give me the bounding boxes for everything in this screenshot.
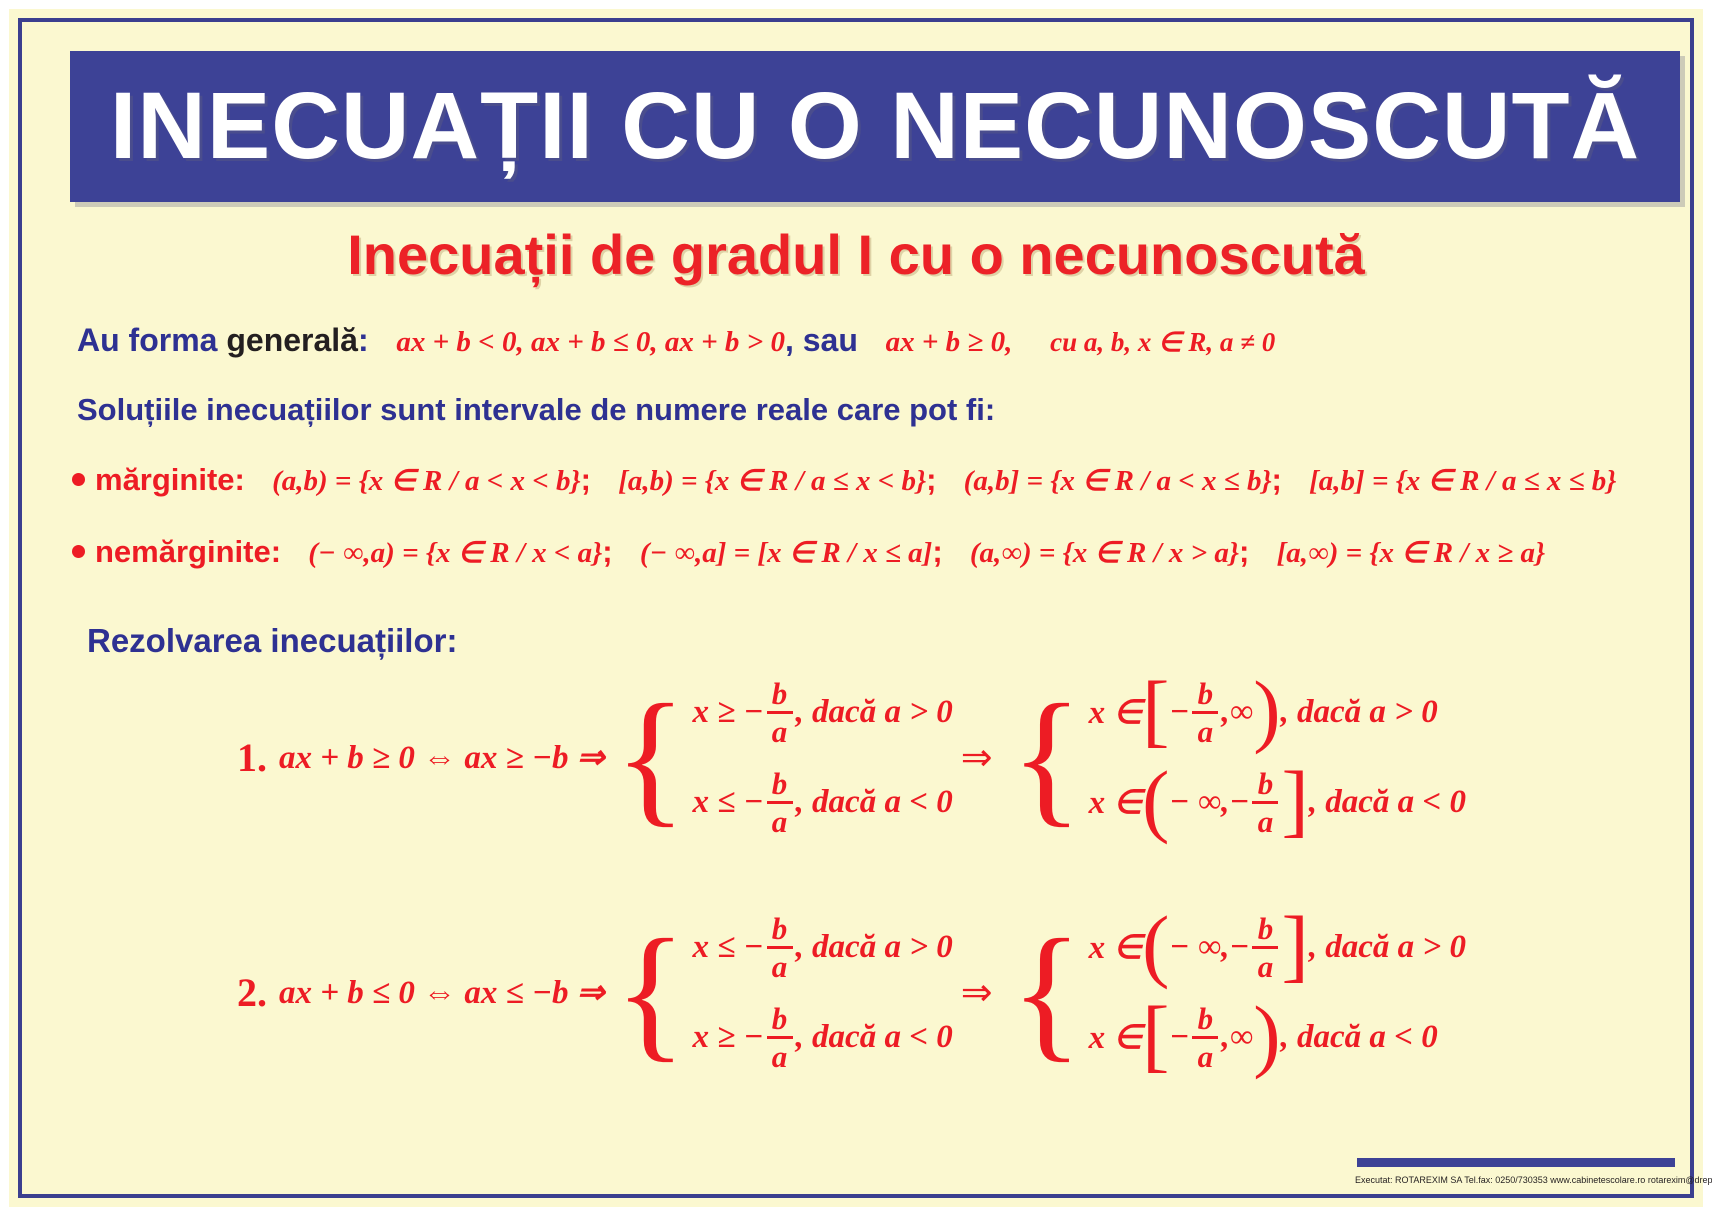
poster-root: INECUAȚII CU O NECUNOSCUTĂ Inecuații de … <box>0 0 1712 1216</box>
f2-l1-fraction: b a <box>767 913 793 982</box>
title-banner: INECUAȚII CU O NECUNOSCUTĂ <box>70 51 1680 202</box>
f1-l1-tail: , dacă a > 0 <box>796 694 953 731</box>
f2-r2-prefix: x ∈ <box>1089 1017 1143 1057</box>
f2-r1-fraction: b a <box>1252 913 1278 982</box>
f1-l2-num: b <box>772 768 788 799</box>
f1-r1-prefix: x ∈ <box>1089 692 1143 732</box>
sep-n-1: ; <box>932 534 942 569</box>
f1-r2-num: b <box>1258 768 1274 799</box>
formula-1-right-case-1: x ∈ [ − b a ,∞ ) , dacă a > 0 <box>1089 667 1466 757</box>
bullet-nemarginite-set-2: (a,∞) = {x ∈ R / x > a} <box>970 537 1239 569</box>
general-form-expr2: ax + b ≥ 0, <box>886 326 1013 358</box>
f2-r2-sign: − <box>1169 1019 1189 1056</box>
general-form-expr1: ax + b < 0, ax + b ≤ 0, ax + b > 0 <box>396 326 785 358</box>
f2-r2-open-bracket-icon: [ <box>1142 1010 1169 1059</box>
formula-2-implies-icon: ⇒ <box>961 970 993 1015</box>
f1-r2-sign: − ∞,− <box>1169 784 1249 821</box>
subtitle: Inecuații de gradul I cu o necunoscută <box>22 222 1690 287</box>
f2-r1-open-bracket-icon: ( <box>1142 920 1169 969</box>
f1-r1-fraction: b a <box>1192 678 1218 747</box>
f2-r2-mid: ,∞ <box>1221 1019 1253 1056</box>
f2-l2-rel: x ≥ − <box>692 1019 763 1056</box>
f1-r2-den: a <box>1258 806 1274 837</box>
general-form-sau: sau <box>803 322 858 358</box>
f1-r2-open-bracket-icon: ( <box>1142 775 1169 824</box>
bullet-nemarginite-set-0: (− ∞,a) = {x ∈ R / x < a} <box>308 537 602 569</box>
f2-l1-tail: , dacă a > 0 <box>796 929 953 966</box>
general-form-colon: : <box>358 322 369 358</box>
formula-1-right-case-2: x ∈ ( − ∞,− b a ] , dacă a < 0 <box>1089 757 1466 847</box>
f1-l1-den: a <box>772 716 788 747</box>
footer-credit: Executat: ROTAREXIM SA Tel.fax: 0250/730… <box>1355 1175 1685 1185</box>
formula-1-lead: ax + b ≥ 0 ⇔ ax ≥ −b ⇒ <box>279 737 604 777</box>
formula-2-left-case-2: x ≥ − b a , dacă a < 0 <box>692 992 952 1082</box>
bullet-dot-icon <box>72 473 85 486</box>
bullet-nemarginite-label: nemărginite: <box>95 534 281 569</box>
sep-n-2: ; <box>1239 534 1249 569</box>
formula-1-left-case-2: x ≤ − b a , dacă a < 0 <box>692 757 952 847</box>
formula-1-number: 1. <box>237 734 267 781</box>
formula-2-number: 2. <box>237 969 267 1016</box>
f1-r1-mid: ,∞ <box>1221 694 1253 731</box>
f2-r1-sign: − ∞,− <box>1169 929 1249 966</box>
bullet-nemarginite-set-3: [a,∞) = {x ∈ R / x ≥ a} <box>1277 537 1546 569</box>
f1-r1-sign: − <box>1169 694 1189 731</box>
bullet-marginite-set-0: (a,b) = {x ∈ R / a < x < b} <box>272 465 581 497</box>
formula-1-right-cases: x ∈ [ − b a ,∞ ) , dacă a > 0 x ∈ ( − ∞,… <box>1089 667 1466 847</box>
formula-block-1: 1. ax + b ≥ 0 ⇔ ax ≥ −b ⇒ { x ≥ − b a , … <box>237 667 1466 847</box>
bullet-marginite: mărginite: (a,b) = {x ∈ R / a < x < b}; … <box>72 462 1616 498</box>
sep-m-0: ; <box>581 462 591 497</box>
f2-l2-fraction: b a <box>767 1003 793 1072</box>
footer-divider <box>1357 1158 1675 1167</box>
f1-l2-den: a <box>772 806 788 837</box>
f2-l2-tail: , dacă a < 0 <box>796 1019 953 1056</box>
general-form-condition: cu a, b, x ∈ R, a ≠ 0 <box>1050 327 1275 357</box>
f2-l1-rel: x ≤ − <box>692 929 763 966</box>
general-form-label-dark: generală <box>226 322 358 358</box>
f1-l2-rel: x ≤ − <box>692 784 763 821</box>
formula-1-left-brace-icon: { <box>614 699 686 816</box>
formula-1-right-brace-icon: { <box>1011 699 1083 816</box>
sep-n-0: ; <box>602 534 612 569</box>
f1-l2-tail: , dacă a < 0 <box>796 784 953 821</box>
f2-r2-close-bracket-icon: ) <box>1253 1010 1280 1059</box>
f2-r2-num: b <box>1198 1003 1214 1034</box>
f1-r1-tail: , dacă a > 0 <box>1281 694 1438 731</box>
bullet-marginite-set-3: [a,b] = {x ∈ R / a ≤ x ≤ b} <box>1309 465 1616 497</box>
formula-1-left-cases: x ≥ − b a , dacă a > 0 x ≤ − b a , <box>692 667 952 847</box>
f1-r2-close-bracket-icon: ] <box>1281 775 1308 824</box>
formula-2-left-brace-icon: { <box>614 934 686 1051</box>
general-form-label-blue: Au forma <box>77 322 226 358</box>
sep-m-1: ; <box>926 462 936 497</box>
sep-m-2: ; <box>1272 462 1282 497</box>
f2-r1-den: a <box>1258 951 1274 982</box>
formula-2-lead: ax + b ≤ 0 ⇔ ax ≤ −b ⇒ <box>279 972 604 1012</box>
formula-2-right-case-1: x ∈ ( − ∞,− b a ] , dacă a > 0 <box>1089 902 1466 992</box>
general-form-comma: , <box>785 322 794 358</box>
poster-frame: INECUAȚII CU O NECUNOSCUTĂ Inecuații de … <box>18 18 1694 1198</box>
bullet-marginite-label: mărginite: <box>95 462 245 497</box>
formula-2-right-case-2: x ∈ [ − b a ,∞ ) , dacă a < 0 <box>1089 992 1466 1082</box>
page-title: INECUAȚII CU O NECUNOSCUTĂ <box>110 79 1640 174</box>
f2-l1-den: a <box>772 951 788 982</box>
f2-r2-tail: , dacă a < 0 <box>1281 1019 1438 1056</box>
f2-r2-fraction: b a <box>1192 1003 1218 1072</box>
f1-r2-tail: , dacă a < 0 <box>1309 784 1466 821</box>
bullet-marginite-set-2: (a,b] = {x ∈ R / a < x ≤ b} <box>964 465 1272 497</box>
f1-r1-close-bracket-icon: ) <box>1253 685 1280 734</box>
f2-r1-num: b <box>1258 913 1274 944</box>
formula-block-2: 2. ax + b ≤ 0 ⇔ ax ≤ −b ⇒ { x ≤ − b a , … <box>237 902 1466 1082</box>
formula-1-left-case-1: x ≥ − b a , dacă a > 0 <box>692 667 952 757</box>
formula-1-implies-icon: ⇒ <box>961 735 993 780</box>
bullet-nemarginite: nemărginite: (− ∞,a) = {x ∈ R / x < a}; … <box>72 534 1545 570</box>
f1-l2-fraction: b a <box>767 768 793 837</box>
f1-r2-fraction: b a <box>1252 768 1278 837</box>
f2-l2-den: a <box>772 1041 788 1072</box>
f1-r1-open-bracket-icon: [ <box>1142 685 1169 734</box>
f1-r2-prefix: x ∈ <box>1089 782 1143 822</box>
f1-r1-den: a <box>1198 716 1214 747</box>
bullet-marginite-set-1: [a,b) = {x ∈ R / a ≤ x < b} <box>618 465 926 497</box>
bullet-nemarginite-set-1: (− ∞,a] = [x ∈ R / x ≤ a] <box>640 537 932 569</box>
formula-2-left-case-1: x ≤ − b a , dacă a > 0 <box>692 902 952 992</box>
f2-l1-num: b <box>772 913 788 944</box>
f1-l1-num: b <box>772 678 788 709</box>
solving-heading: Rezolvarea inecuațiilor: <box>87 622 457 660</box>
f1-l1-rel: x ≥ − <box>692 694 763 731</box>
general-form-line: Au forma generală: ax + b < 0, ax + b ≤ … <box>77 322 1275 359</box>
bullet-dot-icon <box>72 545 85 558</box>
f2-r1-tail: , dacă a > 0 <box>1309 929 1466 966</box>
solutions-intro: Soluțiile inecuațiilor sunt intervale de… <box>77 392 995 428</box>
f2-r1-close-bracket-icon: ] <box>1281 920 1308 969</box>
f1-r1-num: b <box>1198 678 1214 709</box>
formula-2-right-cases: x ∈ ( − ∞,− b a ] , dacă a > 0 x ∈ [ − <box>1089 902 1466 1082</box>
f2-r1-prefix: x ∈ <box>1089 927 1143 967</box>
f2-l2-num: b <box>772 1003 788 1034</box>
formula-2-right-brace-icon: { <box>1011 934 1083 1051</box>
formula-2-left-cases: x ≤ − b a , dacă a > 0 x ≥ − b a , <box>692 902 952 1082</box>
f2-r2-den: a <box>1198 1041 1214 1072</box>
f1-l1-fraction: b a <box>767 678 793 747</box>
